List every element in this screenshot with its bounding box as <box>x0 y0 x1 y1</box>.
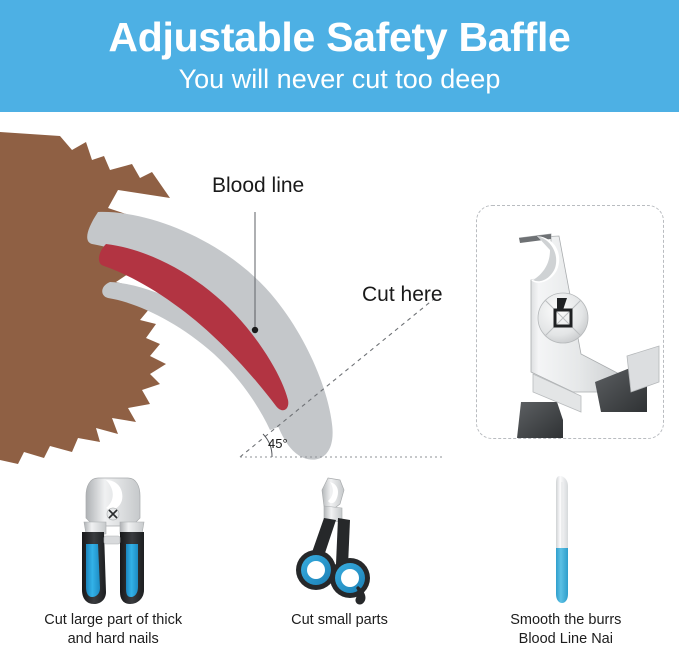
product-cell-nail-file: Smooth the burrs Blood Line Nai <box>453 472 679 657</box>
nail-file-icon <box>511 472 621 607</box>
clipper-handle-left-blue <box>86 544 100 597</box>
page-title: Adjustable Safety Baffle <box>108 16 570 59</box>
grip-left-shape <box>517 402 563 438</box>
safety-baffle-closeup-svg <box>477 206 663 438</box>
product-cell-small-scissors: Cut small parts <box>226 472 452 657</box>
clipper-handle-right-blue <box>126 544 138 597</box>
angle-label: 45° <box>268 436 288 451</box>
large-nail-clipper-icon <box>58 472 168 607</box>
product-infographic: Adjustable Safety Baffle You will never … <box>0 0 679 657</box>
scissors-ring-left-hole <box>307 561 325 579</box>
product-caption: Cut small parts <box>291 611 388 630</box>
scissors-ring-right-hole <box>341 569 359 587</box>
product-row: Cut large part of thick and hard nails <box>0 472 679 657</box>
cut-here-label: Cut here <box>362 283 443 307</box>
small-nail-scissors-icon <box>284 472 394 607</box>
clipper-right-arm <box>627 346 659 392</box>
blood-line-pointer-dot <box>252 327 258 333</box>
safety-baffle-closeup-panel <box>476 205 664 439</box>
header-banner: Adjustable Safety Baffle You will never … <box>0 0 679 112</box>
product-caption: Smooth the burrs Blood Line Nai <box>510 611 621 648</box>
clipper-spring-pin <box>104 536 120 544</box>
file-handle-shape <box>556 548 568 603</box>
blood-line-label: Blood line <box>212 174 304 198</box>
page-subtitle: You will never cut too deep <box>179 65 501 93</box>
product-cell-large-clipper: Cut large part of thick and hard nails <box>0 472 226 657</box>
product-caption: Cut large part of thick and hard nails <box>44 611 182 648</box>
